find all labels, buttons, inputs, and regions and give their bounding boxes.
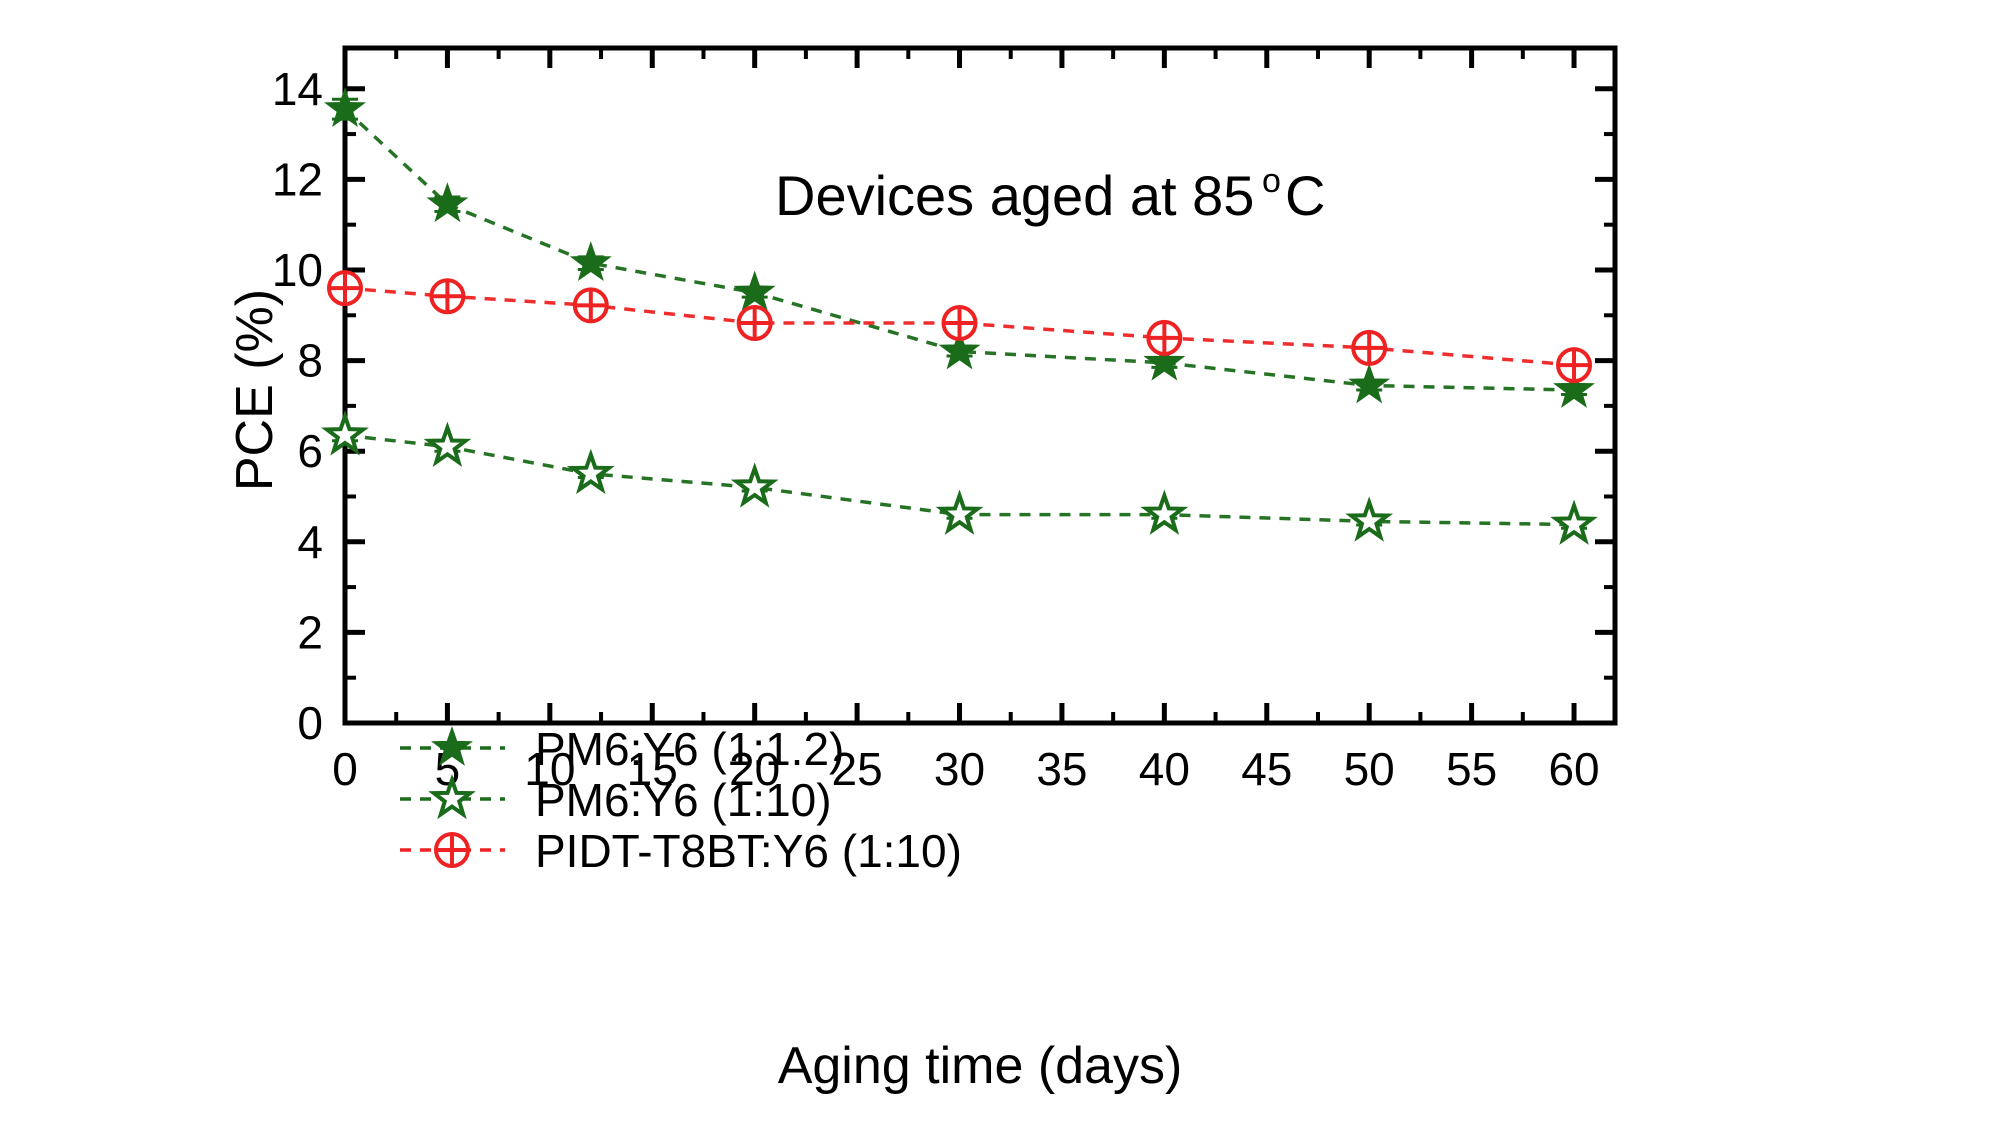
x-tick-label: 55 bbox=[1446, 743, 1497, 795]
y-axis-title: PCE (%) bbox=[226, 289, 284, 491]
y-tick-label: 10 bbox=[272, 244, 323, 296]
x-axis-title: Aging time (days) bbox=[778, 1037, 1183, 1095]
y-tick-label: 4 bbox=[297, 516, 323, 568]
y-tick-label: 2 bbox=[297, 606, 323, 658]
legend-label: PIDT-T8BT:Y6 (1:10) bbox=[535, 825, 962, 877]
y-tick-label: 0 bbox=[297, 697, 323, 749]
x-tick-label: 45 bbox=[1241, 743, 1292, 795]
annotation-text-main: Devices aged at 85 bbox=[775, 164, 1254, 227]
plot-annotation: Devices aged at 85 o C bbox=[775, 162, 1325, 227]
annotation-degree-symbol: o bbox=[1262, 162, 1281, 200]
legend-label: PM6:Y6 (1:1.2) bbox=[535, 723, 844, 775]
pce-vs-aging-time-line-chart: 051015202530354045505560 02468101214 Agi… bbox=[0, 0, 2000, 1124]
annotation-text-unit: C bbox=[1285, 164, 1325, 227]
x-tick-label: 30 bbox=[934, 743, 985, 795]
chart-figure: 051015202530354045505560 02468101214 Agi… bbox=[0, 0, 2000, 1124]
x-tick-label: 50 bbox=[1344, 743, 1395, 795]
x-tick-label: 40 bbox=[1139, 743, 1190, 795]
y-tick-label: 6 bbox=[297, 425, 323, 477]
x-tick-label: 35 bbox=[1036, 743, 1087, 795]
y-tick-label: 14 bbox=[272, 63, 323, 115]
legend-label: PM6:Y6 (1:10) bbox=[535, 774, 832, 826]
x-tick-label: 0 bbox=[332, 743, 358, 795]
y-tick-label: 8 bbox=[297, 335, 323, 387]
x-tick-label: 60 bbox=[1548, 743, 1599, 795]
y-tick-label: 12 bbox=[272, 153, 323, 205]
